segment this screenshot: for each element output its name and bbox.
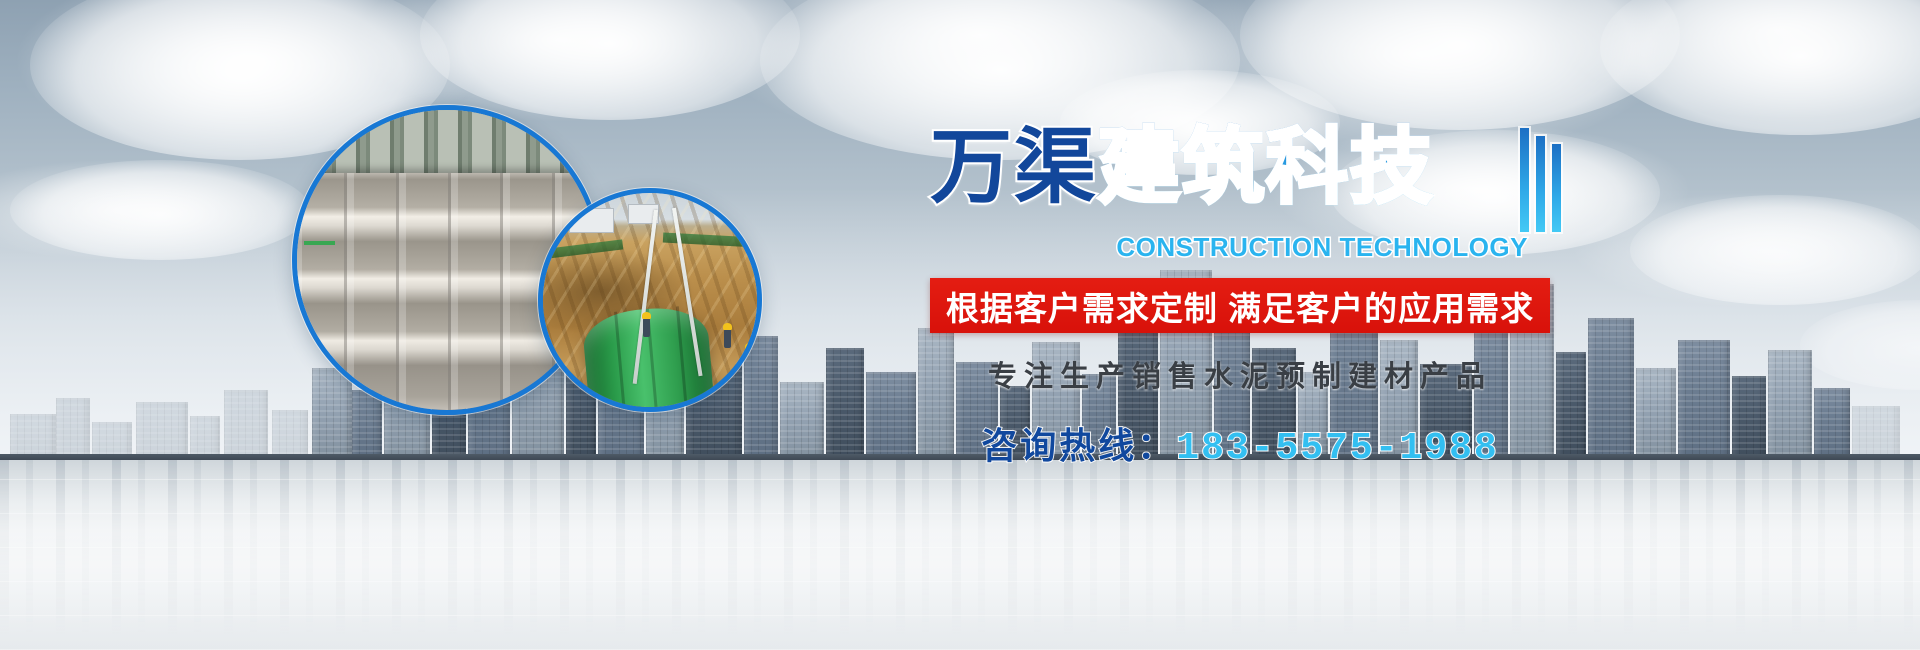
brand-subtitle-en: CONSTRUCTION TECHNOLOGY [1116, 232, 1528, 263]
septic-tank-installation-image [538, 188, 762, 412]
red-slogan-banner: 根据客户需求定制 满足客户的应用需求 [930, 278, 1550, 333]
decorative-bars-icon [1520, 128, 1568, 232]
brand-title: 万渠建筑科技 [930, 120, 1434, 216]
hotline-number: 183-5575-1988 [1176, 427, 1498, 470]
red-slogan-text: 根据客户需求定制 满足客户的应用需求 [946, 282, 1534, 330]
construction-worker [643, 318, 650, 337]
hotline-row: 咨询热线：183-5575-1988 [930, 417, 1550, 470]
hotline-label: 咨询热线： [981, 425, 1176, 466]
construction-worker [746, 349, 753, 368]
banner-text-block: 万渠建筑科技 CONSTRUCTION TECHNOLOGY 根据客户需求定制 … [930, 120, 1570, 470]
promo-banner: 万渠建筑科技 CONSTRUCTION TECHNOLOGY 根据客户需求定制 … [0, 0, 1920, 650]
brand-title-row: 万渠建筑科技 [930, 120, 1570, 226]
photo-circle-septic-tank [538, 188, 762, 412]
brand-subtitle-row: CONSTRUCTION TECHNOLOGY [930, 230, 1570, 264]
pavement-tile-lines [0, 460, 1920, 650]
brand-title-light: 建筑科技 [1098, 120, 1434, 216]
brand-title-dark: 万渠 [930, 120, 1098, 216]
construction-worker [724, 329, 731, 348]
tagline-text: 专注生产销售水泥预制建材产品 [930, 353, 1550, 395]
